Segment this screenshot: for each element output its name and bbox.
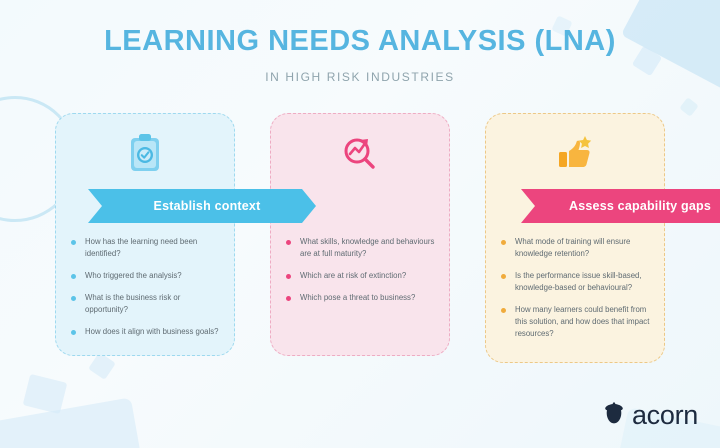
list-item-text: How has the learning need been identifie…	[85, 237, 197, 258]
card-design-solution: Design solution What mode of training wi…	[485, 113, 665, 363]
list-item-text: Is the performance issue skill-based, kn…	[515, 271, 642, 292]
banner-label: Assess capability gaps	[559, 199, 711, 213]
page-title: LEARNING NEEDS ANALYSIS (LNA)	[0, 26, 720, 58]
bullet-dot-icon	[286, 274, 291, 279]
clipboard-check-icon	[56, 130, 234, 176]
header: LEARNING NEEDS ANALYSIS (LNA) IN HIGH RI…	[0, 26, 720, 84]
decor-diamond-3	[23, 374, 68, 414]
list-item: What mode of training will ensure knowle…	[498, 236, 652, 260]
list-item: How many learners could benefit from thi…	[498, 304, 652, 340]
banner-label: Establish context	[144, 199, 261, 213]
list-item-text: What mode of training will ensure knowle…	[515, 237, 630, 258]
page-subtitle: IN HIGH RISK INDUSTRIES	[0, 70, 720, 84]
list-item: What skills, knowledge and behaviours ar…	[283, 236, 437, 260]
bullet-list: What skills, knowledge and behaviours ar…	[283, 236, 437, 314]
magnifier-growth-arrow-icon	[271, 130, 449, 176]
bullet-dot-icon	[71, 330, 76, 335]
list-item-text: Which are at risk of extinction?	[300, 271, 406, 280]
logo-text: acorn	[632, 402, 698, 429]
infographic-canvas: LEARNING NEEDS ANALYSIS (LNA) IN HIGH RI…	[0, 0, 720, 448]
list-item: How does it align with business goals?	[68, 326, 222, 338]
card-assess-capability-gaps: Assess capability gaps What skills, know…	[270, 113, 450, 356]
bullet-dot-icon	[286, 240, 291, 245]
bullet-dot-icon	[501, 240, 506, 245]
list-item: What is the business risk or opportunity…	[68, 292, 222, 316]
banner-establish-context: Establish context	[88, 189, 316, 223]
bullet-list: What mode of training will ensure knowle…	[498, 236, 652, 351]
bullet-dot-icon	[71, 274, 76, 279]
list-item-text: Which pose a threat to business?	[300, 293, 415, 302]
list-item-text: What skills, knowledge and behaviours ar…	[300, 237, 434, 258]
list-item-text: How does it align with business goals?	[85, 327, 219, 336]
list-item: Who triggered the analysis?	[68, 270, 222, 282]
decor-wedge-bottom-left	[0, 397, 146, 448]
brand-logo: acorn	[603, 401, 698, 430]
bullet-dot-icon	[501, 308, 506, 313]
list-item-text: How many learners could benefit from thi…	[515, 305, 649, 338]
thumbs-up-star-icon	[486, 130, 664, 176]
bullet-dot-icon	[501, 274, 506, 279]
acorn-icon	[603, 401, 625, 430]
list-item: Which pose a threat to business?	[283, 292, 437, 304]
bullet-list: How has the learning need been identifie…	[68, 236, 222, 348]
card-establish-context: Establish context How has the learning n…	[55, 113, 235, 356]
cards-container: Establish context How has the learning n…	[0, 113, 720, 363]
list-item-text: What is the business risk or opportunity…	[85, 293, 180, 314]
bullet-dot-icon	[286, 296, 291, 301]
bullet-dot-icon	[71, 296, 76, 301]
banner-assess-capability-gaps: Assess capability gaps	[521, 189, 720, 223]
bullet-dot-icon	[71, 240, 76, 245]
list-item: Is the performance issue skill-based, kn…	[498, 270, 652, 294]
list-item: How has the learning need been identifie…	[68, 236, 222, 260]
list-item-text: Who triggered the analysis?	[85, 271, 182, 280]
list-item: Which are at risk of extinction?	[283, 270, 437, 282]
